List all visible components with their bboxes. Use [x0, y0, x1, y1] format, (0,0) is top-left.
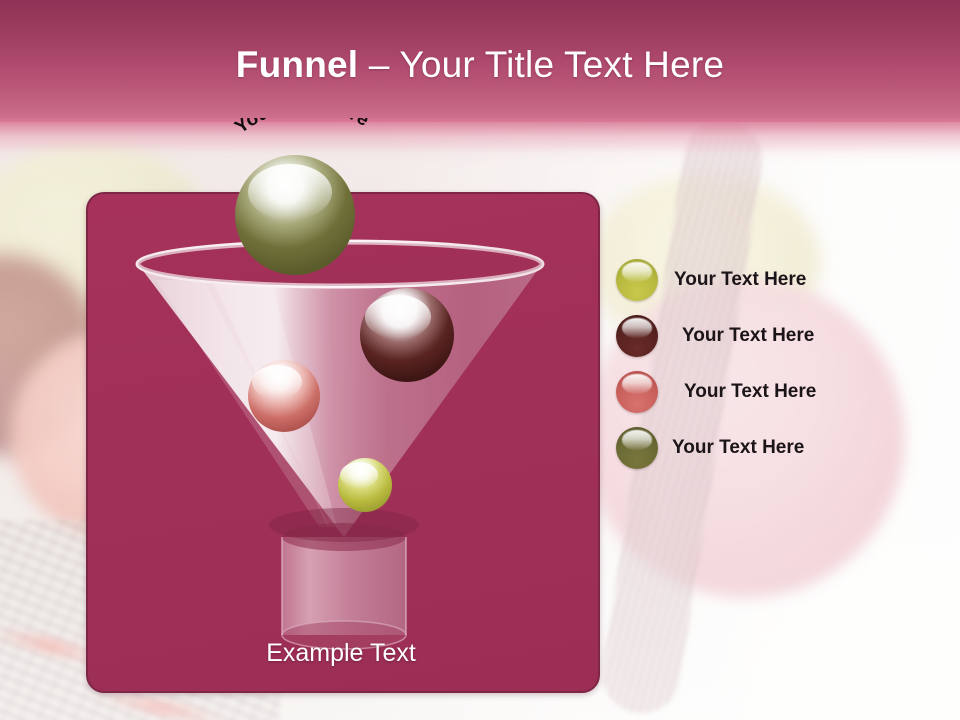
legend-item[interactable]: Your Text Here — [616, 308, 946, 364]
legend-bullet-yellow-green-sphere — [616, 259, 658, 301]
legend-item[interactable]: Your Text Here — [616, 420, 946, 476]
legend-bullet-olive-green-sphere — [616, 427, 658, 469]
legend-item[interactable]: Your Text Here — [616, 364, 946, 420]
legend-bullet-dark-maroon-sphere — [616, 315, 658, 357]
legend-item-label: Your Text Here — [684, 381, 816, 403]
arc-label-text: Your Text Here — [231, 118, 372, 138]
page-title: Funnel – Your Title Text Here — [0, 46, 960, 85]
slide-canvas: Funnel – Your Title Text Here — [0, 0, 960, 720]
legend-bullet-pink-red-sphere — [616, 371, 658, 413]
legend-item-label: Your Text Here — [682, 325, 814, 347]
legend-item-label: Your Text Here — [672, 437, 804, 459]
page-title-bold: Funnel — [236, 44, 358, 85]
panel-caption: Example Text — [86, 639, 596, 668]
legend-list: Your Text Here Your Text Here Your Text … — [616, 252, 946, 476]
legend-item-label: Your Text Here — [674, 269, 806, 291]
legend-item[interactable]: Your Text Here — [616, 252, 946, 308]
page-title-rest: – Your Title Text Here — [358, 44, 724, 85]
arc-label: Your Text Here — [196, 118, 416, 198]
